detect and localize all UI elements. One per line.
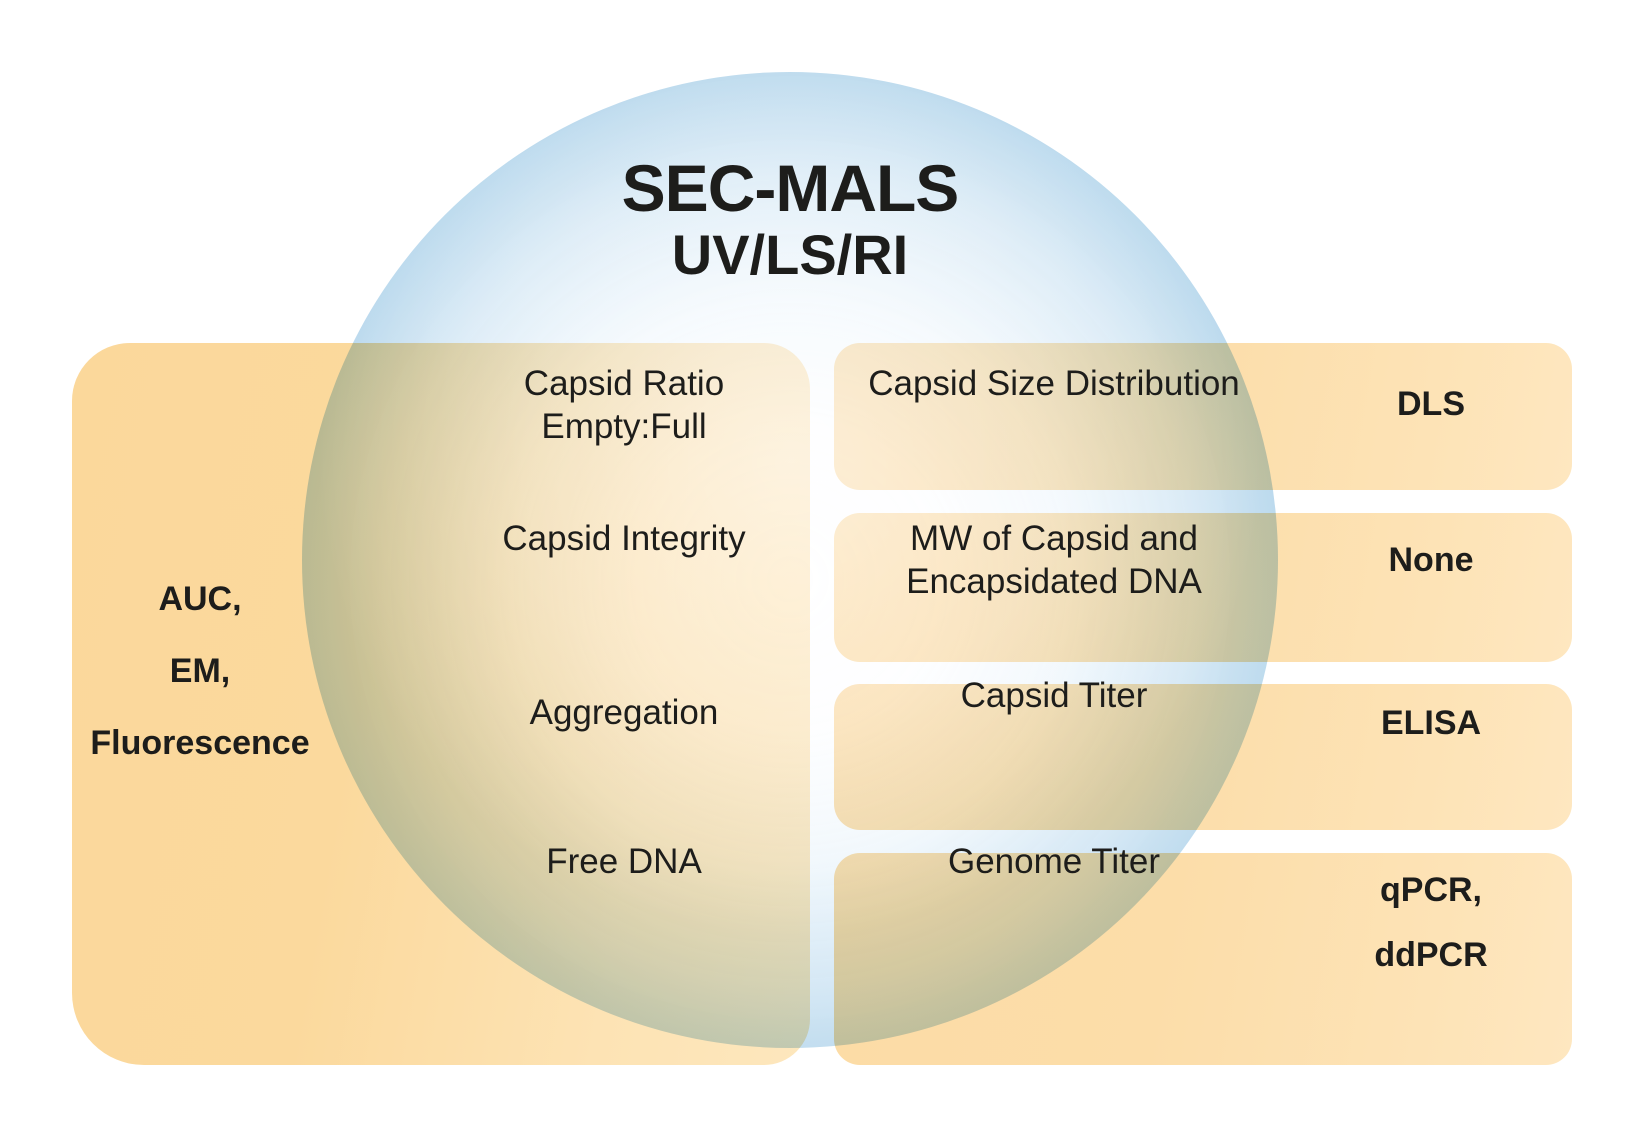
attribute-capsid-integrity: Capsid Integrity	[440, 518, 808, 561]
left-method-auc: AUC,	[72, 580, 328, 619]
attribute-genome-titer: Genome Titer	[834, 841, 1274, 884]
right-method-none: None	[1290, 541, 1572, 580]
attribute-free-dna: Free DNA	[440, 841, 808, 884]
figure-title-sub: UV/LS/RI	[302, 222, 1278, 287]
text-layer: SEC-MALS UV/LS/RI AUC, EM, Fluorescence …	[0, 0, 1644, 1137]
figure-canvas: SEC-MALS UV/LS/RI AUC, EM, Fluorescence …	[0, 0, 1644, 1137]
attribute-aggregation: Aggregation	[440, 692, 808, 735]
figure-title-main: SEC-MALS	[302, 150, 1278, 226]
attribute-capsid-titer: Capsid Titer	[834, 675, 1274, 718]
attribute-capsid-ratio: Capsid Ratio Empty:Full	[440, 363, 808, 448]
left-method-fluorescence: Fluorescence	[72, 724, 328, 763]
attribute-mw-capsid-dna: MW of Capsid and Encapsidated DNA	[834, 518, 1274, 603]
right-method-elisa: ELISA	[1290, 704, 1572, 743]
right-method-dls: DLS	[1290, 385, 1572, 424]
attribute-capsid-size-distribution: Capsid Size Distribution	[834, 363, 1274, 406]
left-method-em: EM,	[72, 652, 328, 691]
right-method-pcr: qPCR, ddPCR	[1290, 858, 1572, 987]
